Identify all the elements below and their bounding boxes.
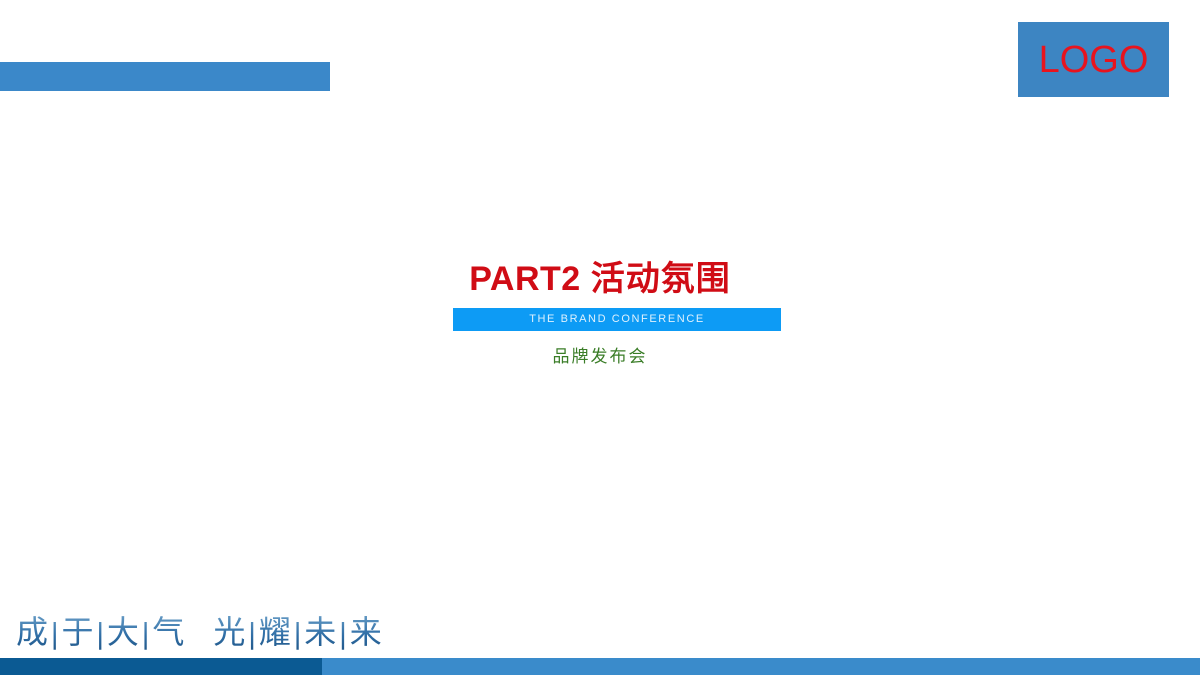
logo-text: LOGO	[1039, 41, 1149, 79]
slogan-separator: |	[337, 617, 349, 650]
slogan-separator: |	[94, 617, 106, 650]
slogan-separator: |	[246, 617, 258, 650]
slogan-separator: |	[140, 617, 152, 650]
section-title-block: PART2活动氛围 THE BRAND CONFERENCE 品牌发布会	[0, 258, 1200, 300]
slogan-separator: |	[49, 617, 61, 650]
slogan-char-5: 光	[213, 613, 246, 651]
slogan-separator: |	[292, 617, 304, 650]
slogan-char-1: 成	[16, 613, 49, 651]
slogan-char-2: 于	[61, 613, 94, 651]
subtitle-chinese: 品牌发布会	[0, 345, 1200, 369]
slogan-char-3: 大	[107, 613, 140, 651]
bottom-accent-bar-dark	[0, 658, 322, 675]
bottom-accent-bar-light	[322, 658, 1200, 675]
slogan-char-4: 气	[152, 613, 185, 651]
subtitle-banner: THE BRAND CONFERENCE	[453, 308, 781, 331]
slogan-char-8: 来	[350, 613, 383, 651]
slogan-char-6: 耀	[259, 613, 292, 651]
section-title-part: PART2	[469, 260, 580, 298]
footer-slogan: 成|于|大|气光|耀|未|来	[16, 609, 383, 657]
logo-placeholder-box[interactable]: LOGO	[1018, 22, 1169, 97]
section-title: PART2活动氛围	[0, 258, 1200, 300]
top-left-accent-bar	[0, 62, 330, 91]
subtitle-english: THE BRAND CONFERENCE	[529, 314, 705, 325]
section-title-cn: 活动氛围	[591, 259, 731, 299]
slogan-char-7: 未	[304, 613, 337, 651]
slide-canvas: LOGO PART2活动氛围 THE BRAND CONFERENCE 品牌发布…	[0, 0, 1200, 675]
